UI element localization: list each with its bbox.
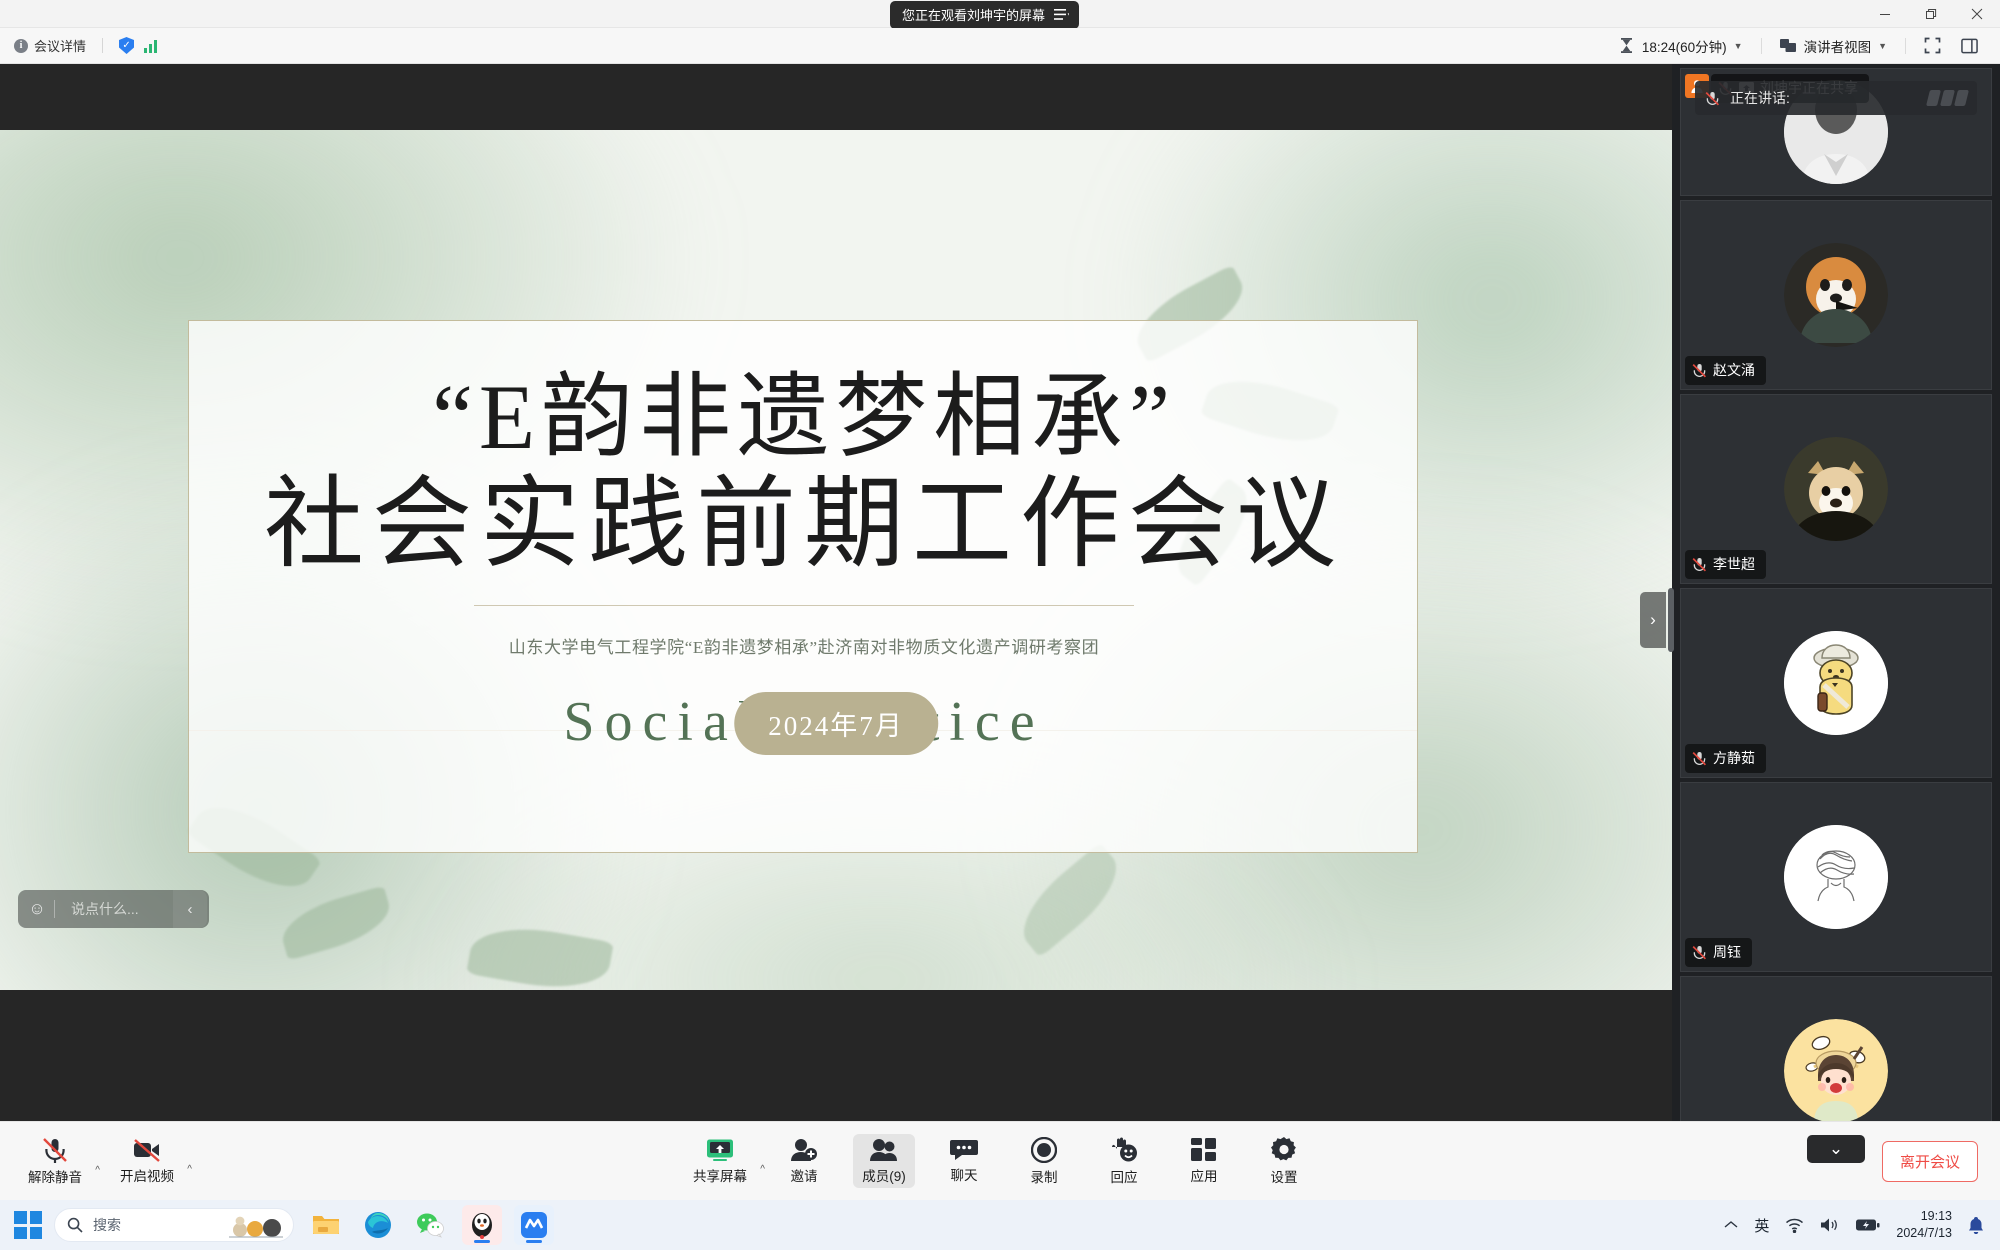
topbar-right-group: 18:24(60分钟) ▼ 演讲者视图 ▼ bbox=[1608, 32, 2000, 60]
security-shield-icon[interactable]: ✓ bbox=[119, 37, 134, 54]
chevron-down-icon-2: ▼ bbox=[1878, 41, 1887, 51]
file-explorer-icon[interactable] bbox=[306, 1205, 346, 1245]
meeting-timer-label: 18:24(60分钟) bbox=[1642, 36, 1727, 56]
topbar-divider bbox=[102, 38, 103, 53]
participants-sidebar: 正在讲话: bbox=[1672, 64, 2000, 1121]
window-controls bbox=[1862, 0, 2000, 28]
topbar-left-group: i 会议详情 ✓ bbox=[0, 36, 157, 55]
slide-title-block: “E韵非遗梦相承” 社会实践前期工作会议 山东大学电气工程学院“E韵非遗梦相承”… bbox=[189, 321, 1419, 754]
toolbar-left-group: 解除静音 ^ 开启视频 ^ bbox=[0, 1133, 182, 1189]
sidebar-collapse-button[interactable]: › bbox=[1640, 592, 1666, 648]
slide-title-rule bbox=[474, 605, 1134, 606]
avatar bbox=[1784, 243, 1888, 347]
participant-name-tag: 李世超 bbox=[1685, 550, 1766, 579]
taskbar-clock[interactable]: 19:13 2024/7/13 bbox=[1896, 1208, 1952, 1242]
slide-subtitle: 山东大学电气工程学院“E韵非遗梦相承”赴济南对非物质文化遗产调研考察团 bbox=[189, 633, 1419, 658]
participant-name: 赵文涌 bbox=[1713, 360, 1755, 380]
taskbar-search[interactable]: 搜索 bbox=[54, 1208, 294, 1242]
presentation-slide: “E韵非遗梦相承” 社会实践前期工作会议 山东大学电气工程学院“E韵非遗梦相承”… bbox=[0, 130, 1672, 990]
reaction-label: 回应 bbox=[1111, 1166, 1138, 1186]
microsoft-edge-icon[interactable] bbox=[358, 1205, 398, 1245]
meeting-topbar: i 会议详情 ✓ 18:24(60分钟) ▼ bbox=[0, 28, 2000, 64]
chat-button[interactable]: 聊天 bbox=[933, 1135, 995, 1187]
shared-screen-stage: “E韵非遗梦相承” 社会实践前期工作会议 山东大学电气工程学院“E韵非遗梦相承”… bbox=[0, 64, 1672, 1121]
meeting-toolbar: 解除静音 ^ 开启视频 ^ 共享屏幕 bbox=[0, 1121, 2000, 1200]
sharing-tooltip: 您正在观看刘坤宇的屏幕 bbox=[890, 1, 1079, 29]
participant-name-tag: 赵文涌 bbox=[1685, 356, 1766, 385]
participant-tile[interactable]: 李世超 bbox=[1680, 394, 1992, 584]
avatar bbox=[1784, 825, 1888, 929]
meeting-details-button[interactable]: i 会议详情 bbox=[14, 36, 86, 55]
participant-tile[interactable]: 正在讲话: bbox=[1680, 68, 1992, 196]
participant-name: 李世超 bbox=[1713, 554, 1755, 574]
clock-time: 19:13 bbox=[1896, 1208, 1952, 1225]
meeting-timer[interactable]: 18:24(60分钟) ▼ bbox=[1608, 32, 1753, 60]
chevron-up-icon-2[interactable]: ^ bbox=[187, 1164, 192, 1175]
start-video-button[interactable]: 开启视频 ^ bbox=[112, 1134, 182, 1188]
slide-title-card: “E韵非遗梦相承” 社会实践前期工作会议 山东大学电气工程学院“E韵非遗梦相承”… bbox=[188, 320, 1418, 853]
chevron-down-icon: ▼ bbox=[1734, 41, 1743, 51]
view-mode-label: 演讲者视图 bbox=[1804, 36, 1872, 56]
layout-button[interactable] bbox=[1951, 33, 1988, 58]
chevron-up-icon[interactable]: ^ bbox=[95, 1165, 100, 1176]
split-layout-icon bbox=[1961, 37, 1978, 54]
windows-logo-icon[interactable] bbox=[14, 1211, 42, 1239]
search-placeholder: 搜索 bbox=[93, 1215, 121, 1235]
qq-icon[interactable] bbox=[462, 1205, 502, 1245]
participant-name-tag: 方静茹 bbox=[1685, 744, 1766, 773]
sharing-tooltip-text: 您正在观看刘坤宇的屏幕 bbox=[902, 5, 1045, 24]
windows-taskbar: 搜索 bbox=[0, 1200, 2000, 1250]
unmute-button[interactable]: 解除静音 ^ bbox=[20, 1133, 90, 1189]
battery-charging-icon[interactable] bbox=[1856, 1218, 1880, 1232]
settings-label: 设置 bbox=[1271, 1166, 1298, 1186]
slide-title-line2: 社会实践前期工作会议 bbox=[189, 469, 1419, 581]
participant-tile[interactable]: 周钰 bbox=[1680, 782, 1992, 972]
view-mode-selector[interactable]: 演讲者视图 ▼ bbox=[1770, 32, 1897, 60]
microphone-muted-icon bbox=[1692, 363, 1707, 378]
microphone-muted-icon bbox=[1705, 91, 1720, 106]
wifi-icon[interactable] bbox=[1785, 1218, 1804, 1233]
participant-tile[interactable]: 赵文涌 bbox=[1680, 200, 1992, 390]
participants-button[interactable]: 成员(9) bbox=[853, 1134, 915, 1188]
stage-chat-bar[interactable]: ☺ 说点什么... ‹ bbox=[18, 890, 209, 928]
search-illustration-icon bbox=[227, 1214, 285, 1238]
fullscreen-button[interactable] bbox=[1914, 33, 1951, 58]
speaker-view-icon bbox=[1780, 37, 1797, 54]
hourglass-icon bbox=[1618, 37, 1635, 54]
clock-date: 2024/7/13 bbox=[1896, 1225, 1952, 1242]
invite-button[interactable]: 邀请 bbox=[773, 1134, 835, 1188]
avatar bbox=[1784, 437, 1888, 541]
leave-meeting-button[interactable]: 离开会议 bbox=[1882, 1141, 1978, 1182]
bell-icon[interactable] bbox=[1968, 1217, 1984, 1233]
apps-button[interactable]: 应用 bbox=[1173, 1134, 1235, 1188]
settings-button[interactable]: 设置 bbox=[1253, 1133, 1315, 1189]
info-icon: i bbox=[14, 39, 28, 53]
sidebar-scrollbar[interactable] bbox=[1668, 588, 1674, 652]
tencent-meeting-window: 您正在观看刘坤宇的屏幕 i 会 bbox=[0, 0, 2000, 1250]
share-screen-label: 共享屏幕 bbox=[693, 1165, 747, 1185]
close-button[interactable] bbox=[1954, 0, 2000, 28]
tooltip-menu-icon[interactable] bbox=[1054, 9, 1067, 20]
avatar bbox=[1784, 1019, 1888, 1123]
window-titlebar: 您正在观看刘坤宇的屏幕 bbox=[0, 0, 2000, 28]
participant-name: 方静茹 bbox=[1713, 748, 1755, 768]
chevron-down-icon[interactable]: ⌄ bbox=[1807, 1135, 1865, 1163]
record-button[interactable]: 录制 bbox=[1013, 1133, 1075, 1189]
microphone-muted-icon bbox=[1692, 945, 1707, 960]
tencent-meeting-icon[interactable] bbox=[514, 1205, 554, 1245]
magnifier-icon bbox=[67, 1217, 83, 1233]
wechat-icon[interactable] bbox=[410, 1205, 450, 1245]
speaking-label: 正在讲话: bbox=[1730, 88, 1790, 108]
chat-input-placeholder[interactable]: 说点什么... bbox=[55, 899, 173, 919]
participant-tile[interactable]: 方静茹 bbox=[1680, 588, 1992, 778]
apps-label: 应用 bbox=[1191, 1165, 1218, 1185]
toolbar-center-group: 共享屏幕 ^ 邀请 成员(9) bbox=[685, 1133, 1315, 1189]
minimize-button[interactable] bbox=[1862, 0, 1908, 28]
taskbar-apps: 搜索 bbox=[0, 1205, 554, 1245]
network-signal-icon[interactable] bbox=[144, 39, 157, 53]
microphone-muted-icon bbox=[1692, 557, 1707, 572]
ime-indicator[interactable]: 英 bbox=[1754, 1215, 1769, 1236]
speaking-indicator: 正在讲话: bbox=[1695, 81, 1977, 115]
fullscreen-icon bbox=[1924, 37, 1941, 54]
unmute-label: 解除静音 bbox=[28, 1166, 82, 1186]
meeting-details-label: 会议详情 bbox=[34, 36, 86, 55]
start-video-label: 开启视频 bbox=[120, 1165, 174, 1185]
participants-label: 成员(9) bbox=[862, 1165, 906, 1185]
invite-label: 邀请 bbox=[791, 1165, 818, 1185]
restore-button[interactable] bbox=[1908, 0, 1954, 28]
microphone-muted-icon bbox=[1692, 751, 1707, 766]
reaction-button[interactable]: 回应 bbox=[1093, 1133, 1155, 1189]
emoji-smiley-icon[interactable]: ☺ bbox=[20, 890, 54, 928]
topbar-divider-2 bbox=[1761, 38, 1762, 54]
speaking-waveform-icon bbox=[1928, 90, 1967, 106]
topbar-divider-3 bbox=[1905, 38, 1906, 54]
slide-title-line1: “E韵非遗梦相承” bbox=[189, 366, 1419, 469]
system-tray: 英 19:13 2024/7/ bbox=[1724, 1208, 2000, 1242]
speaker-icon[interactable] bbox=[1820, 1217, 1840, 1233]
participant-name: 周钰 bbox=[1713, 942, 1741, 962]
chevron-up-icon-3[interactable]: ^ bbox=[760, 1164, 765, 1175]
record-label: 录制 bbox=[1031, 1166, 1058, 1186]
chevron-up-icon-tray[interactable] bbox=[1724, 1220, 1738, 1230]
avatar bbox=[1784, 631, 1888, 735]
chat-label: 聊天 bbox=[951, 1164, 978, 1184]
participant-name-tag: 周钰 bbox=[1685, 938, 1752, 967]
slide-date-badge: 2024年7月 bbox=[734, 692, 938, 755]
share-screen-button[interactable]: 共享屏幕 ^ bbox=[685, 1134, 755, 1188]
chevron-left-icon[interactable]: ‹ bbox=[173, 890, 207, 928]
